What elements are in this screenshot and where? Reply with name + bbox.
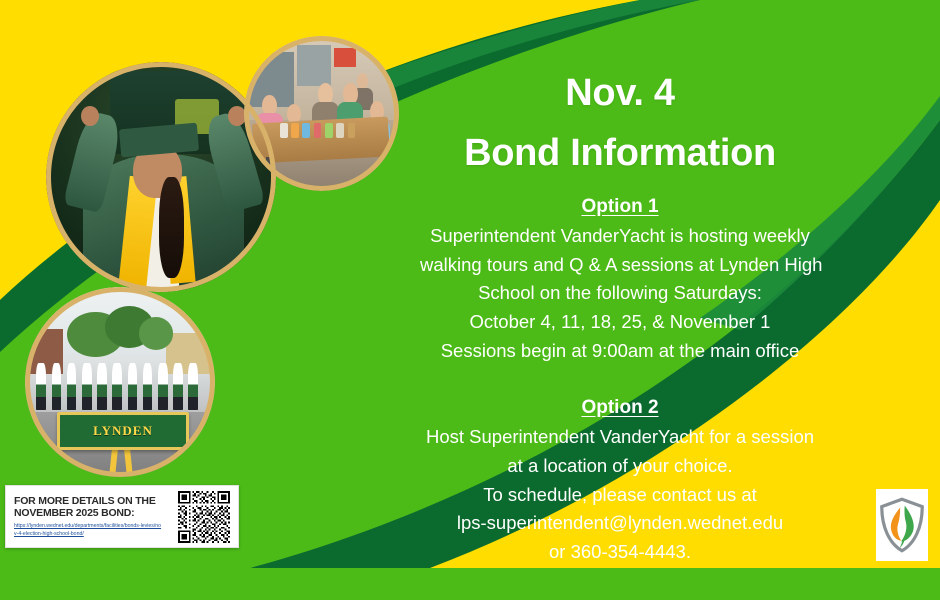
graduate-photo-ring: [46, 62, 276, 292]
bond-details-heading-line-1: FOR MORE DETAILS ON THE: [14, 495, 178, 508]
bond-details-heading-line-2: NOVEMBER 2025 BOND:: [14, 507, 178, 520]
logo-flame-orange: [891, 508, 901, 541]
option-2-line: lps-superintendent@lynden.wednet.edu: [420, 509, 820, 538]
classroom-photo-ring: [244, 36, 399, 191]
headline-main: Bond Information: [420, 134, 820, 172]
bond-information-poster: LYNDEN Nov. 4 Bond Information Option 1 …: [0, 0, 940, 600]
poster-text-column: Nov. 4 Bond Information Option 1 Superin…: [420, 0, 820, 600]
option-1-line: October 4, 11, 18, 25, & November 1: [420, 308, 820, 337]
graduate-photo: [46, 62, 276, 292]
option-2-line: or 360-354-4443.: [420, 538, 820, 567]
bond-details-text: FOR MORE DETAILS ON THE NOVEMBER 2025 BO…: [12, 495, 178, 539]
option-1-line: Sessions begin at 9:00am at the main off…: [420, 337, 820, 366]
option-1-heading: Option 1: [420, 196, 820, 218]
marching-band-photo: LYNDEN: [25, 287, 215, 477]
option-1-line: School on the following Saturdays:: [420, 279, 820, 308]
classroom-photo: [244, 36, 399, 191]
headline-date: Nov. 4: [420, 74, 820, 112]
qr-code-icon[interactable]: [178, 491, 230, 543]
bond-details-box: FOR MORE DETAILS ON THE NOVEMBER 2025 BO…: [5, 485, 239, 548]
option-2-body: Host Superintendent VanderYacht for a se…: [420, 423, 820, 566]
marching-band-photo-ring: [25, 287, 215, 477]
option-1-line: walking tours and Q & A sessions at Lynd…: [420, 251, 820, 280]
option-1-body: Superintendent VanderYacht is hosting we…: [420, 222, 820, 365]
option-2-line: Host Superintendent VanderYacht for a se…: [420, 423, 820, 452]
option-2-heading: Option 2: [420, 397, 820, 419]
lynden-school-district-logo: [876, 489, 928, 561]
option-2-line: To schedule, please contact us at: [420, 481, 820, 510]
option-1-line: Superintendent VanderYacht is hosting we…: [420, 222, 820, 251]
option-2-line: at a location of your choice.: [420, 452, 820, 481]
logo-flame-green: [901, 506, 914, 542]
bond-details-url-link[interactable]: https://lynden.wednet.edu/departments/fa…: [14, 523, 162, 538]
